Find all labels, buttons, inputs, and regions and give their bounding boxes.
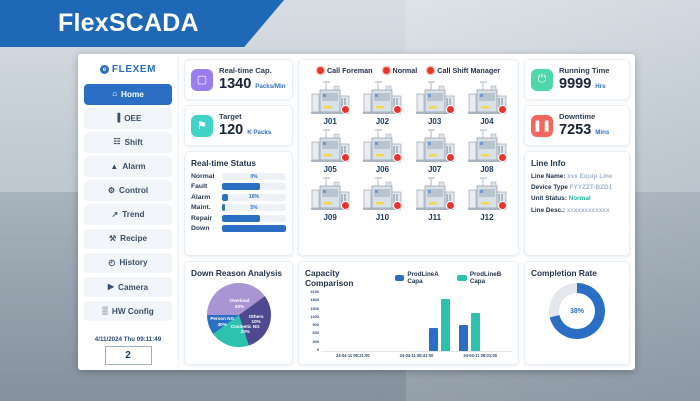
downtime-value: 7253 [559, 122, 591, 139]
left-column: ▢ Real-time Cap. 1340 Packs/Min ⚑ Target [184, 59, 293, 256]
running-time-unit: Hrs [595, 83, 605, 90]
pie-slice-name: Cosmetic NG [231, 324, 260, 329]
realtime-capacity-unit: Packs/Min [255, 83, 285, 90]
machine-tile[interactable]: J01 [305, 80, 355, 126]
sidebar-item-label: Trend [122, 210, 144, 219]
machine-illustration-icon [463, 128, 511, 166]
status-label: Fault [191, 183, 218, 190]
machine-tile[interactable]: J03 [410, 80, 460, 126]
capacity-comparison-title: Capacity Comparison [305, 268, 381, 288]
legend-label: Call Shift Manager [437, 66, 500, 75]
running-time-card: ⏻ Running Time 9999 Hrs [524, 59, 630, 100]
capacity-chart-legend: ProdLineA CapaProdLineB Capa [395, 271, 512, 285]
x-axis-ticks: 24-04-11 08:21:0024-04-11 08:41:0024-04-… [321, 353, 512, 358]
line-info-key: Device Type [531, 184, 568, 191]
line-info-card: Line Info Line Name: xxx Equip LineDevic… [524, 151, 630, 256]
y-tick-label: 900 [313, 323, 320, 327]
status-bar-track: 10% [222, 194, 286, 201]
capacity-comparison-card: Capacity Comparison ProdLineA CapaProdLi… [298, 261, 519, 365]
target-label: Target [219, 113, 271, 122]
machine-tile[interactable]: J10 [357, 176, 407, 222]
status-bar-track: 17% [222, 225, 286, 232]
running-time-label: Running Time [559, 67, 609, 76]
machine-illustration-icon [306, 128, 354, 166]
line-info-row: Device Type FYYZZT-BZD1 [531, 184, 623, 191]
sidebar-nav: ⌂Home▐OEE☷Shift▲Alarm⚙Control↗Trend⚒Reci… [84, 84, 172, 325]
status-row: Normal0% [191, 173, 286, 180]
line-info-key: Line Desc.: [531, 207, 565, 214]
machine-tile[interactable]: J04 [462, 80, 512, 126]
y-axis-ticks: 21001800150012009006003000 [305, 290, 321, 352]
pie-slice-value: 20% [241, 329, 250, 334]
status-bar-percent: 0% [222, 173, 286, 180]
y-tick-label: 600 [313, 331, 320, 335]
status-dot-icon [427, 67, 434, 74]
machine-illustration-icon [306, 80, 354, 118]
sidebar-item-label: OEE [124, 114, 141, 123]
line-info-key: Line Name: [531, 173, 565, 180]
legend-swatch [457, 275, 467, 281]
machine-tile[interactable]: J08 [462, 128, 512, 174]
sidebar-item-oee[interactable]: ▐OEE [84, 108, 172, 129]
sidebar-item-camera[interactable]: ▶Camera [84, 277, 172, 298]
brand-logo: e FLEXEM [84, 60, 172, 79]
sidebar-footer: 4/11/2024 Thu 09:11:49 2 [84, 336, 172, 370]
dashboard-panel: e FLEXEM ⌂Home▐OEE☷Shift▲Alarm⚙Control↗T… [78, 54, 635, 370]
legend-label: ProdLineB Capa [470, 271, 512, 285]
machine-grid-card: Call ForemanNormalCall Shift Manager J01… [298, 59, 519, 256]
machine-tile[interactable]: J06 [357, 128, 407, 174]
pie-slice-name: Overload [230, 298, 250, 303]
right-column: ⏻ Running Time 9999 Hrs ❚❚ Downtime [524, 59, 630, 256]
sidebar-item-history[interactable]: ◴History [84, 253, 172, 274]
target-unit: K Packs [247, 129, 271, 136]
line-info-row: Line Name: xxx Equip Line [531, 173, 623, 180]
line-info-list: Line Name: xxx Equip LineDevice Type FYY… [531, 173, 623, 214]
line-info-row: Line Desc.: xxxxxxxxxxxx [531, 207, 623, 214]
status-bar-track: 60% [222, 183, 286, 190]
machine-illustration-icon [463, 80, 511, 118]
line-info-key: Unit Status: [531, 195, 567, 202]
completion-rate-card: Completion Rate 38% [524, 261, 630, 365]
status-bar-track: 60% [222, 215, 286, 222]
bar [471, 313, 480, 351]
flag-icon: ⚑ [191, 115, 213, 137]
machine-tile[interactable]: J09 [305, 176, 355, 222]
downtime-unit: Mins [595, 129, 609, 136]
bell-icon: ▲ [110, 163, 118, 171]
sidebar-item-label: Camera [118, 283, 148, 292]
line-info-value: FYYZZT-BZD1 [570, 184, 613, 191]
machine-illustration-icon [306, 176, 354, 214]
status-label: Alarm [191, 194, 218, 201]
completion-rate-title: Completion Rate [531, 268, 623, 278]
machine-illustration-icon [411, 128, 459, 166]
flask-icon: ⚒ [109, 235, 116, 243]
machine-legend: Call ForemanNormalCall Shift Manager [305, 66, 512, 75]
sidebar-item-label: History [119, 258, 147, 267]
machine-tile[interactable]: J11 [410, 176, 460, 222]
legend-label: Call Foreman [327, 66, 373, 75]
sidebar-item-alarm[interactable]: ▲Alarm [84, 156, 172, 177]
status-bar-percent: 10% [222, 194, 286, 201]
plot-area [321, 290, 512, 352]
machine-label: J11 [428, 213, 441, 222]
machine-grid: J01J02J03J04J05J06J07J08J09J10J11J12 [305, 80, 512, 222]
brand-mark-icon: e [100, 65, 109, 74]
sidebar-item-label: Home [121, 90, 144, 99]
machine-label: J07 [428, 165, 441, 174]
down-reason-pie-chart: Overload40%Person NG30%Cosmetic NG20%Oth… [207, 283, 271, 347]
chart-legend-item: ProdLineA Capa [395, 271, 450, 285]
machine-label: J02 [376, 117, 389, 126]
completion-rate-value: 38% [559, 293, 595, 329]
target-card: ⚑ Target 120 K Packs [184, 105, 293, 146]
legend-label: ProdLineA Capa [407, 271, 449, 285]
camera-icon: ▶ [108, 283, 114, 291]
machine-tile[interactable]: J05 [305, 128, 355, 174]
trend-icon: ↗ [112, 211, 119, 219]
sidebar-item-trend[interactable]: ↗Trend [84, 204, 172, 225]
pie-slice-name: Person NG [210, 316, 234, 321]
sidebar-item-control[interactable]: ⚙Control [84, 180, 172, 201]
down-reason-card: Down Reason Analysis Overload40%Person N… [184, 261, 293, 365]
machine-label: J05 [323, 165, 336, 174]
y-tick-label: 0 [317, 348, 319, 352]
bar-series [321, 290, 512, 351]
bar [429, 328, 438, 351]
status-bar-track: 0% [222, 173, 286, 180]
history-icon: ◴ [108, 259, 115, 267]
status-label: Repair [191, 215, 218, 222]
status-label: Down [191, 225, 218, 232]
y-tick-label: 2100 [310, 290, 319, 294]
status-row: Alarm10% [191, 194, 286, 201]
status-row: Repair60% [191, 215, 286, 222]
machine-status-dot-icon [446, 153, 455, 162]
status-label: Maint. [191, 204, 218, 211]
y-tick-label: 1800 [310, 298, 319, 302]
sidebar-item-recipe[interactable]: ⚒Recipe [84, 229, 172, 250]
status-dot-icon [383, 67, 390, 74]
sidebar-item-label: Recipe [120, 234, 147, 243]
machine-tile[interactable]: J07 [410, 128, 460, 174]
bar [459, 325, 468, 351]
down-reason-title: Down Reason Analysis [191, 268, 286, 278]
sidebar-item-label: Shift [124, 138, 142, 147]
machine-label: J10 [376, 213, 389, 222]
sidebar-item-shift[interactable]: ☷Shift [84, 132, 172, 153]
machine-illustration-icon [358, 176, 406, 214]
bar-chart-icon: ▐ [115, 114, 121, 122]
y-tick-label: 1500 [310, 307, 319, 311]
line-info-value: Normal [569, 195, 591, 202]
line-info-value: xxxxxxxxxxxx [567, 207, 610, 214]
brand-name: FLEXEM [112, 64, 156, 75]
status-row: Maint.5% [191, 204, 286, 211]
status-row: Down17% [191, 225, 286, 232]
machine-label: J01 [323, 117, 336, 126]
x-tick-label: 24-04-11 08:41:00 [385, 353, 449, 358]
legend-label: Normal [393, 66, 418, 75]
running-time-value: 9999 [559, 76, 591, 93]
status-bar-list: Normal0%Fault60%Alarm10%Maint.5%Repair60… [191, 173, 286, 232]
machine-illustration-icon [463, 176, 511, 214]
machine-status-dot-icon [498, 153, 507, 162]
line-info-value: xxx Equip Line [567, 173, 612, 180]
realtime-capacity-value: 1340 [219, 76, 251, 93]
sidebar-item-label: Control [119, 186, 148, 195]
pie-slice-label: Overload40% [230, 298, 250, 309]
pie-slice-value: 40% [235, 304, 244, 309]
status-bar-percent: 5% [222, 204, 286, 211]
power-icon: ⏻ [531, 69, 553, 91]
pause-icon: ❚❚ [531, 115, 553, 137]
legend-item: Call Foreman [317, 66, 373, 75]
sidebar-item-hw-config[interactable]: ▒HW Config [84, 301, 172, 322]
legend-item: Call Shift Manager [427, 66, 500, 75]
y-tick-label: 300 [313, 340, 320, 344]
bar [441, 299, 450, 351]
pie-slice-label: Others10% [249, 314, 264, 325]
machine-status-dot-icon [498, 201, 507, 210]
status-bar-percent: 60% [222, 215, 286, 222]
bottom-row: Down Reason Analysis Overload40%Person N… [184, 261, 630, 365]
pie-slice-value: 10% [252, 319, 261, 324]
downtime-card: ❚❚ Downtime 7253 Mins [524, 105, 630, 146]
target-value: 120 [219, 122, 243, 139]
x-tick-label: 24-04-11 08:21:00 [321, 353, 385, 358]
app-header: FlexSCADA [0, 0, 284, 47]
sidebar-item-home[interactable]: ⌂Home [84, 84, 172, 105]
machine-label: J12 [480, 213, 493, 222]
status-bar-track: 5% [222, 204, 286, 211]
status-bar-percent: 60% [222, 183, 286, 190]
sidebar-item-label: HW Config [112, 307, 154, 316]
machine-illustration-icon [411, 176, 459, 214]
machine-label: J09 [323, 213, 336, 222]
realtime-capacity-card: ▢ Real-time Cap. 1340 Packs/Min [184, 59, 293, 100]
gear-icon: ⚙ [108, 187, 115, 195]
sidebar-item-label: Alarm [122, 162, 145, 171]
downtime-label: Downtime [559, 113, 609, 122]
machine-label: J03 [428, 117, 441, 126]
machine-tile[interactable]: J12 [462, 176, 512, 222]
machine-illustration-icon [358, 80, 406, 118]
machine-status-dot-icon [446, 105, 455, 114]
machine-label: J08 [480, 165, 493, 174]
realtime-status-card: Real-time Status Normal0%Fault60%Alarm10… [184, 151, 293, 256]
realtime-capacity-label: Real-time Cap. [219, 67, 286, 76]
completion-rate-gauge: 38% [549, 283, 605, 339]
pie-slice-label: Cosmetic NG20% [231, 324, 260, 335]
machine-illustration-icon [411, 80, 459, 118]
machine-status-dot-icon [446, 201, 455, 210]
line-info-title: Line Info [531, 158, 623, 168]
status-row: Fault60% [191, 183, 286, 190]
legend-swatch [395, 275, 405, 281]
status-dot-icon [317, 67, 324, 74]
realtime-status-title: Real-time Status [191, 158, 286, 168]
x-tick-label: 24-04-11 09:01:00 [448, 353, 512, 358]
status-bar-percent: 17% [222, 225, 286, 232]
grid-icon: ▒ [102, 307, 108, 315]
clock-label: 4/11/2024 Thu 09:11:49 [84, 336, 172, 343]
machine-tile[interactable]: J02 [357, 80, 407, 126]
machine-label: J06 [376, 165, 389, 174]
y-tick-label: 1200 [310, 315, 319, 319]
pie-slice-name: Others [249, 314, 264, 319]
machine-status-dot-icon [498, 105, 507, 114]
chart-legend-item: ProdLineB Capa [457, 271, 512, 285]
app-title: FlexSCADA [58, 9, 199, 38]
line-info-row: Unit Status: Normal [531, 195, 623, 202]
status-label: Normal [191, 173, 218, 180]
machine-label: J04 [480, 117, 493, 126]
home-icon: ⌂ [112, 90, 117, 98]
page-number-box[interactable]: 2 [105, 346, 152, 365]
legend-item: Normal [383, 66, 418, 75]
box-icon: ▢ [191, 69, 213, 91]
sidebar: e FLEXEM ⌂Home▐OEE☷Shift▲Alarm⚙Control↗T… [78, 54, 179, 370]
top-row: ▢ Real-time Cap. 1340 Packs/Min ⚑ Target [184, 59, 630, 256]
pie-slice-value: 30% [218, 322, 227, 327]
calendar-icon: ☷ [113, 138, 120, 146]
dashboard-content: ▢ Real-time Cap. 1340 Packs/Min ⚑ Target [179, 54, 635, 370]
machine-illustration-icon [358, 128, 406, 166]
